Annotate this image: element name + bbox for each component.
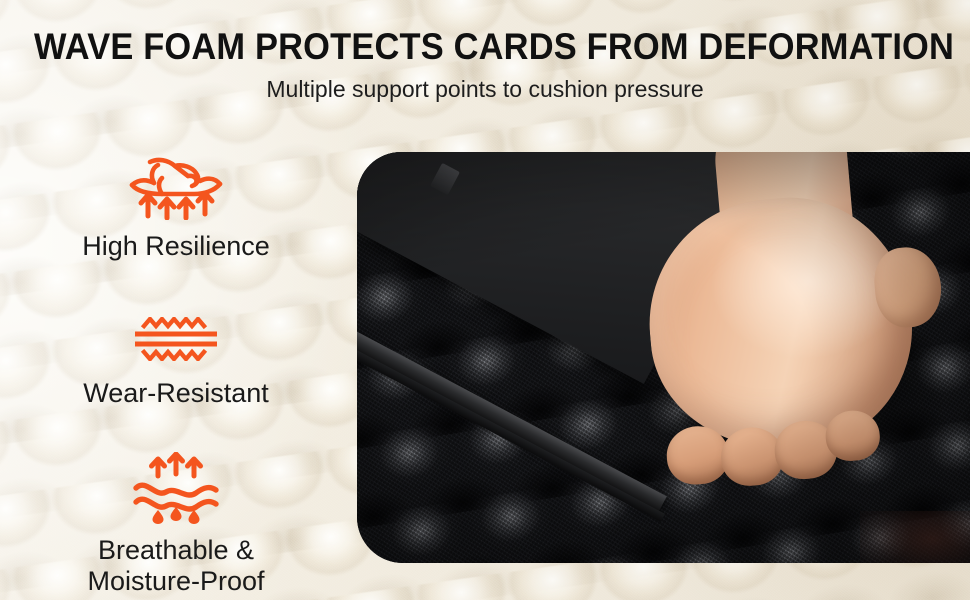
feature-item-wear-resistant: Wear-Resistant (8, 317, 344, 409)
page-subtitle: Multiple support points to cushion press… (0, 76, 970, 103)
feature-label: High Resilience (8, 231, 344, 262)
feature-label: Breathable & Moisture-Proof (8, 535, 344, 598)
feature-item-breathable-moisture-proof: Breathable & Moisture-Proof (8, 452, 344, 598)
page-title: WAVE FOAM PROTECTS CARDS FROM DEFORMATIO… (34, 26, 936, 68)
zigzag-layers-icon (8, 317, 344, 366)
feature-item-high-resilience: High Resilience (8, 150, 344, 262)
product-photo (357, 152, 970, 563)
feature-list: High Resilience Wear-Resistant (8, 150, 344, 597)
feature-label: Wear-Resistant (8, 378, 344, 409)
product-feature-banner: WAVE FOAM PROTECTS CARDS FROM DEFORMATIO… (0, 0, 970, 600)
hand-press-arrows-icon (8, 150, 344, 225)
fist (622, 152, 950, 482)
airflow-waves-droplets-icon (8, 452, 344, 529)
